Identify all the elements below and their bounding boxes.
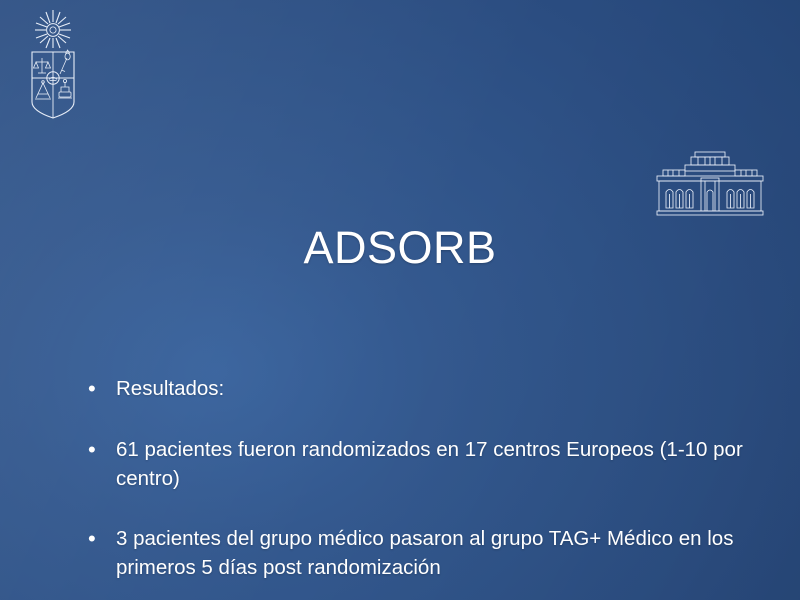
presentation-slide: ADSORB • Resultados: • 61 pacientes fuer… xyxy=(0,0,800,600)
bullet-item-1: • Resultados: xyxy=(84,374,754,404)
bullet-text-3: 3 pacientes del grupo médico pasaron al … xyxy=(116,524,754,582)
bullet-item-2: • 61 pacientes fueron randomizados en 17… xyxy=(84,435,754,493)
bullet-text-1: Resultados: xyxy=(116,374,754,403)
bullet-item-3: • 3 pacientes del grupo médico pasaron a… xyxy=(84,524,754,582)
bullet-dot-icon: • xyxy=(84,435,116,465)
building-facade-icon xyxy=(645,148,775,220)
slide-title: ADSORB xyxy=(0,224,800,271)
bullet-dot-icon: • xyxy=(84,524,116,554)
slide-body: • Resultados: • 61 pacientes fueron rand… xyxy=(84,374,754,600)
universidad-de-chile-logo xyxy=(22,8,84,120)
bullet-text-2: 61 pacientes fueron randomizados en 17 c… xyxy=(116,435,754,493)
hospital-del-salvador-logo xyxy=(645,148,775,220)
bullet-dot-icon: • xyxy=(84,374,116,404)
coat-of-arms-icon xyxy=(22,8,84,120)
